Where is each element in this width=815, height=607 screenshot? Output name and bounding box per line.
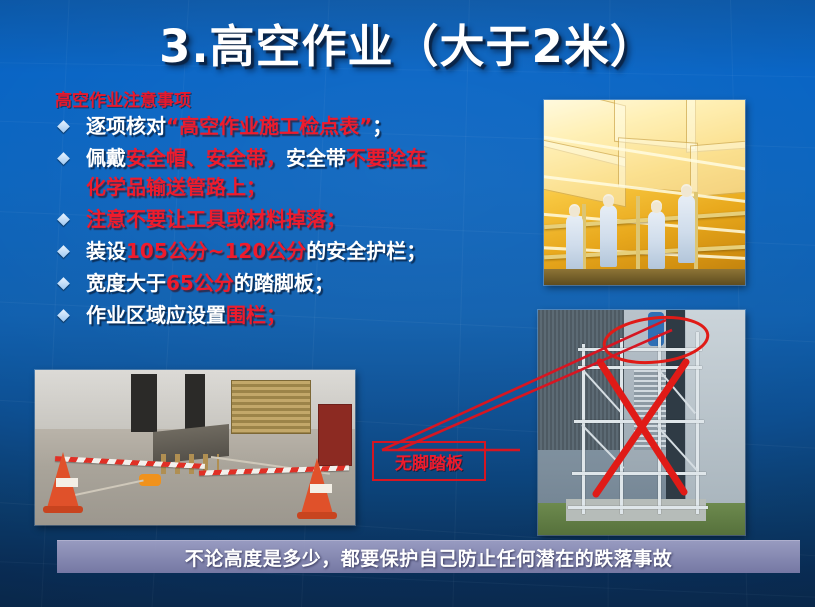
cone-reflective-band [310,484,332,493]
bullet-harness-seg-1: 佩戴 [86,146,126,170]
doorway [185,374,205,432]
diamond-bullet-icon [57,309,70,322]
scaffold-ledger [572,472,706,475]
photo-scaffold-without-footboard [538,310,745,535]
bullet-harness-seg-2: 安全帽、安全带， [126,146,286,170]
ceiling-panel [618,137,698,193]
scaffold-ledger [578,348,702,351]
bullet-barricade-seg-1: 作业区域应设置 [86,303,226,327]
building-wall-right [686,310,745,510]
scaffold-deck [544,269,745,285]
diamond-bullet-icon [57,120,70,133]
concrete-slab [566,499,706,521]
diamond-bullet-icon [57,245,70,258]
diamond-bullet-icon [57,152,70,165]
bullet-guardrail-seg-1: 装设 [86,239,126,263]
bullet-guardrail-seg-2: 105公分~120公分 [126,239,306,263]
roller-shutter [231,380,311,434]
worker-figure [648,211,665,269]
cone-reflective-band [56,478,78,487]
bullet-guardrail: 装设105公分~120公分的安全护栏； [86,237,518,266]
diamond-bullet-icon [57,213,70,226]
bullet-harness-seg-3: 安全带 [286,146,346,170]
bullet-item-3: 注意不要让工具或材料掉落； [48,205,518,234]
diamond-bullet-icon [57,277,70,290]
scaffold-standard [658,334,661,514]
photo-workers-on-scaffold [544,100,745,285]
bullet-guardrail-seg-3: 的安全护栏； [306,239,426,263]
bullet-harness-seg-4: 不要拴在 [346,146,426,170]
bullet-barricade-seg-2: 围栏； [226,303,286,327]
mesh-wall [538,310,624,450]
scaffold-standard [620,338,623,514]
bullet-checklist-seg-1: 逐项核对 [86,114,166,138]
annotation-label-text: 无脚踏板 [395,449,463,474]
doorway [131,374,157,432]
bullet-item-2: 佩戴安全帽、安全带，安全带不要拴在化学品输送管路上； [48,144,518,202]
bullet-harness-seg-6: 化学品输送管路上； [86,175,266,199]
bullet-list: 逐项核对“高空作业施工检点表”；佩戴安全帽、安全带，安全带不要拴在化学品输送管路… [48,112,518,333]
worker-figure [566,215,583,271]
bullet-harness: 佩戴安全帽、安全带，安全带不要拴在化学品输送管路上； [86,144,518,202]
scaffold-ledger [578,366,702,369]
cone-base [43,506,83,513]
annotation-label-box: 无脚踏板 [372,441,486,481]
red-panel [318,404,352,466]
bullet-item-6: 作业区域应设置围栏； [48,301,518,330]
photo-barricaded-work-area [35,370,355,525]
page-title: 3.高空作业（大于2米） [0,10,815,75]
bottom-banner: 不论高度是多少，都要保护自己防止任何潜在的跌落事故 [57,540,800,573]
blue-tarp [648,312,664,346]
bullet-footboard-width-seg-2: 65公分 [166,271,234,295]
bottom-banner-text: 不论高度是多少，都要保护自己防止任何潜在的跌落事故 [185,544,673,571]
cone-base [297,512,337,519]
bullet-footboard-width: 宽度大于65公分的踏脚板； [86,269,518,298]
section-subheading: 高空作业注意事项 [55,86,191,111]
worker-figure [678,195,695,263]
bullet-footboard-width-seg-3: 的踏脚板； [234,271,334,295]
worker-figure [600,205,617,267]
bullet-item-1: 逐项核对“高空作业施工检点表”； [48,112,518,141]
bullet-footboard-width-seg-1: 宽度大于 [86,271,166,295]
scaffold-ledger [574,420,704,423]
bullet-falling-objects: 注意不要让工具或材料掉落； [86,205,518,234]
bullet-checklist: 逐项核对“高空作业施工检点表”； [86,112,518,141]
bullet-barricade: 作业区域应设置围栏； [86,301,518,330]
bullet-item-4: 装设105公分~120公分的安全护栏； [48,237,518,266]
bullet-checklist-seg-2: “高空作业施工检点表” [166,114,372,138]
slide-canvas: 3.高空作业（大于2米） 高空作业注意事项 逐项核对“高空作业施工检点表”；佩戴… [0,0,815,607]
bullet-item-5: 宽度大于65公分的踏脚板； [48,269,518,298]
louver-vent [634,370,666,450]
scaffold-ledger [568,506,708,509]
bullet-falling-objects-seg-1: 注意不要让工具或材料掉落； [86,207,346,231]
bullet-checklist-seg-3: ； [372,114,392,138]
scaffold-post [636,196,640,272]
scaffold-standard [696,332,699,514]
